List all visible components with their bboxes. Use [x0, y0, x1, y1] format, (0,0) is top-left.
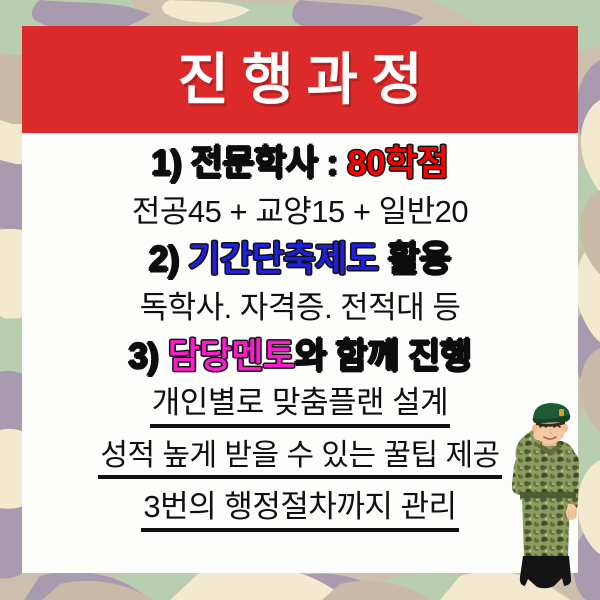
- item-3-number: 3): [128, 337, 167, 376]
- item-2-headline: 2) 기간단축제도 활용: [22, 242, 578, 279]
- item-3-headline: 3) 담당멘토와 함께 진행: [22, 339, 578, 376]
- item-2-number: 2): [149, 240, 188, 279]
- saluting-soldier-icon: [492, 400, 600, 595]
- item-1-label: 전문학사 :: [191, 144, 347, 183]
- item-2-detail: 독학사. 자격증. 전적대 등: [22, 292, 578, 325]
- benefit-1-text: 개인별로 맞춤플랜 설계: [150, 387, 450, 428]
- benefit-3-text: 3번의 행정절차까지 관리: [141, 491, 458, 532]
- item-1-number: 1): [151, 144, 190, 183]
- benefit-2-text: 성적 높게 받을 수 있는 꿀팁 제공: [98, 440, 501, 480]
- item-1-detail: 전공45 + 교양15 + 일반20: [22, 196, 578, 229]
- item-1-highlight: 80학점: [347, 144, 448, 183]
- poster: 진행과정 1) 전문학사 : 80학점 전공45 + 교양15 + 일반20 2…: [0, 0, 600, 600]
- item-2-label: 활용: [378, 240, 451, 279]
- item-3-label: 와 함께 진행: [295, 337, 472, 376]
- item-2-highlight: 기간단축제도: [188, 240, 378, 279]
- header-banner: 진행과정: [22, 26, 578, 133]
- item-1-headline: 1) 전문학사 : 80학점: [22, 146, 578, 183]
- page-title: 진행과정: [164, 52, 435, 108]
- item-3-highlight: 담당멘토: [168, 337, 295, 376]
